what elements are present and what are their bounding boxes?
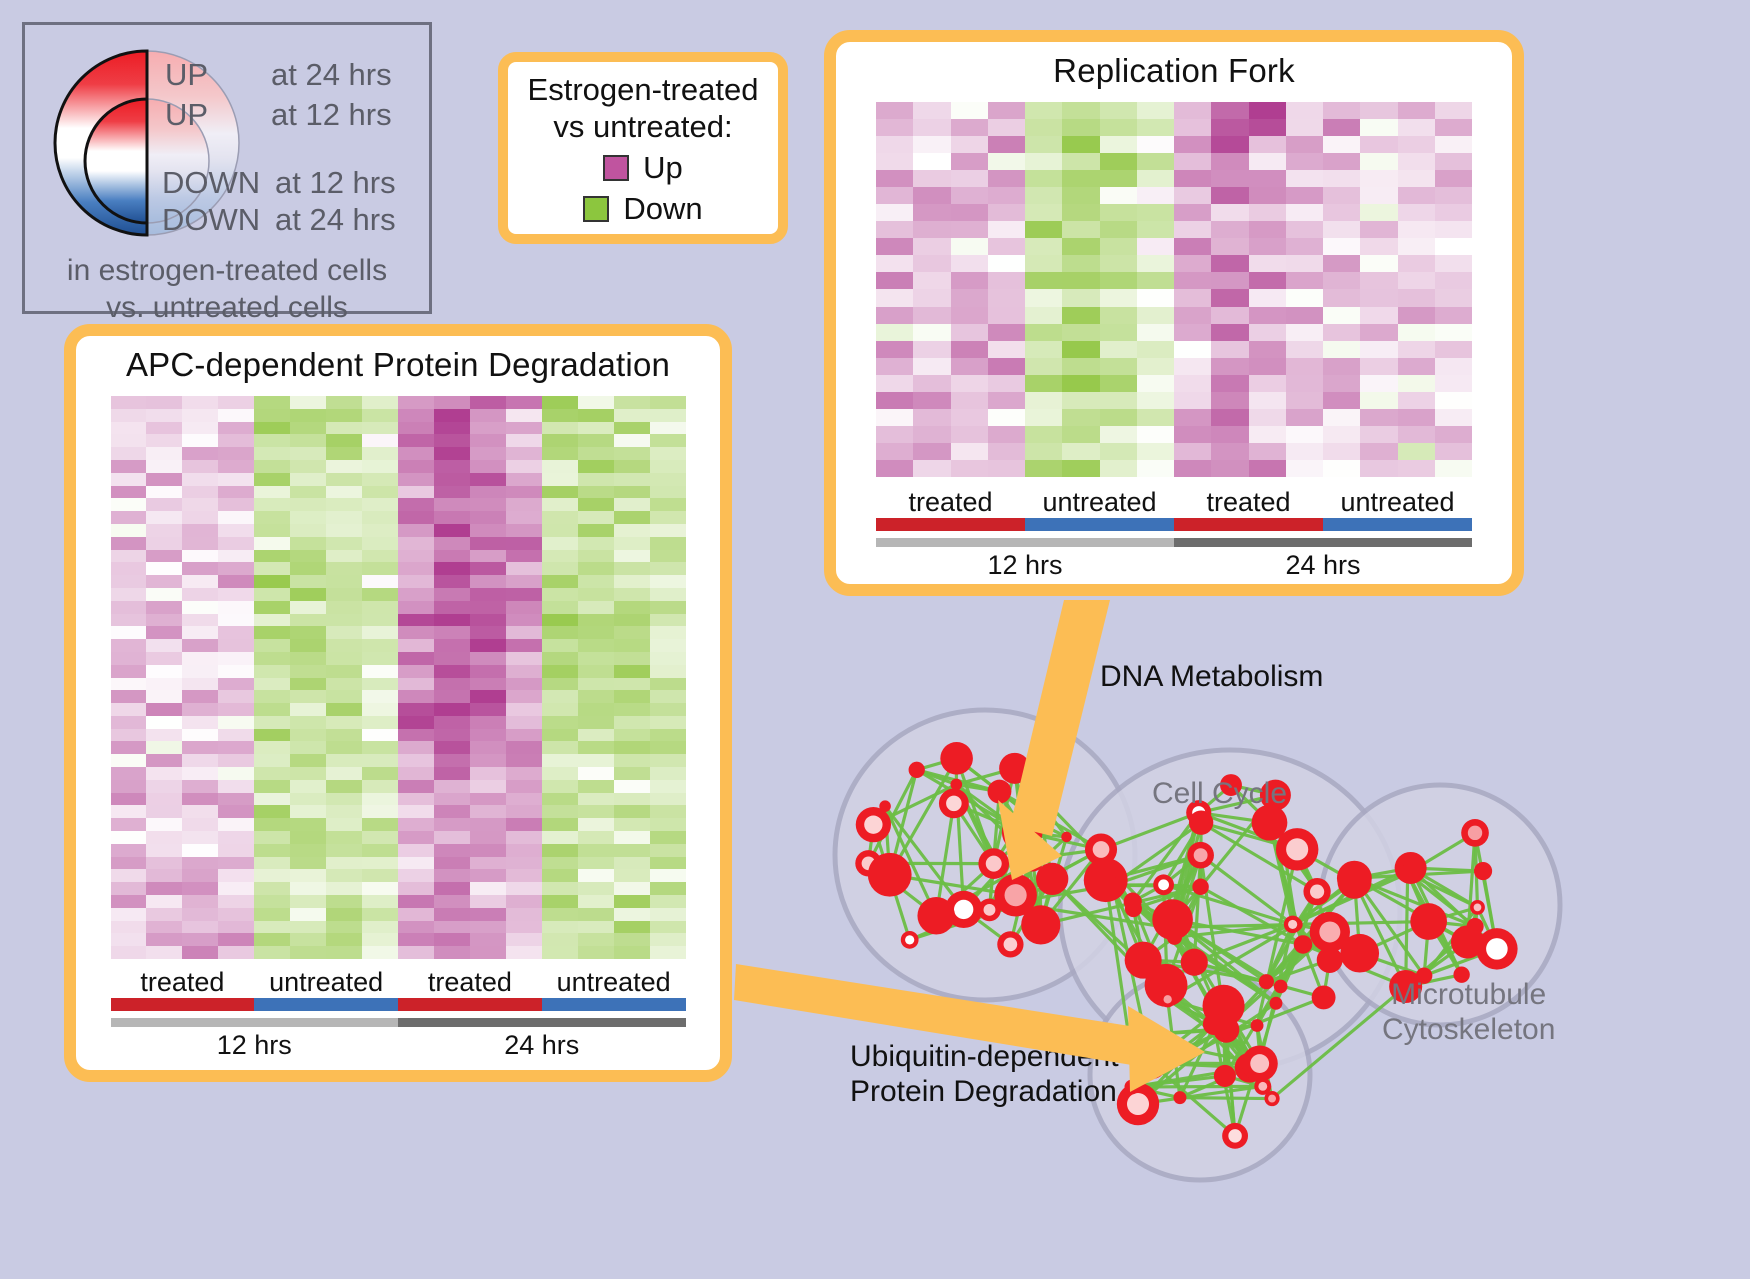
heatmap-cell [398, 895, 434, 908]
heatmap-cell [1062, 221, 1099, 238]
heatmap-cell [290, 396, 326, 409]
heatmap-cell [951, 409, 988, 426]
cluster-label-ubiquitin: Ubiquitin-dependent Protein Degradation [850, 1040, 1119, 1109]
heatmap-cell [1025, 187, 1062, 204]
heatmap-cell [218, 537, 254, 550]
heatmap-cell [290, 882, 326, 895]
heatmap-cell [470, 562, 506, 575]
heatmap-cell [434, 396, 470, 409]
heatmap-cell [1211, 443, 1248, 460]
heatmap-cell [614, 409, 650, 422]
heatmap-cell [988, 341, 1025, 358]
heatmap-cell [951, 375, 988, 392]
heatmap-cell [111, 716, 147, 729]
heatmap-cell [913, 153, 950, 170]
heatmap-cell [1025, 204, 1062, 221]
heatmap-cell [111, 831, 147, 844]
heatmap-cell [506, 626, 542, 639]
heatmap-cell [254, 524, 290, 537]
heatmap-cell [146, 818, 182, 831]
heatmap-cell [470, 652, 506, 665]
heatmap-cell [1323, 204, 1360, 221]
heatmap-cell [1360, 409, 1397, 426]
apc-title: APC-dependent Protein Degradation [76, 336, 720, 384]
heatmap-cell [1249, 426, 1286, 443]
timepoint-label: 24 hrs [398, 1027, 686, 1061]
heatmap-cell [434, 729, 470, 742]
heatmap-cell [988, 324, 1025, 341]
heatmap-cell [578, 818, 614, 831]
heatmap-cell [542, 869, 578, 882]
heatmap-cell [1025, 324, 1062, 341]
heatmap-cell [111, 690, 147, 703]
heatmap-cell [1398, 272, 1435, 289]
heatmap-cell [614, 601, 650, 614]
heatmap-cell [542, 614, 578, 627]
heatmap-cell [1323, 153, 1360, 170]
heatmap-cell [218, 882, 254, 895]
heatmap-cell [1249, 289, 1286, 306]
heatmap-cell [578, 562, 614, 575]
heatmap-cell [254, 396, 290, 409]
heatmap-cell [1062, 238, 1099, 255]
heatmap-cell [111, 575, 147, 588]
heatmap-cell [913, 255, 950, 272]
heatmap-cell [111, 486, 147, 499]
heatmap-cell [988, 221, 1025, 238]
heatmap-cell [146, 703, 182, 716]
heatmap-cell [470, 946, 506, 959]
heatmap-cell [988, 170, 1025, 187]
heatmap-cell [1435, 136, 1472, 153]
heatmap-cell [146, 473, 182, 486]
heatmap-cell [1249, 358, 1286, 375]
heatmap-cell [290, 831, 326, 844]
heatmap-cell [470, 818, 506, 831]
heatmap-cell [362, 921, 398, 934]
heatmap-cell [913, 204, 950, 221]
heatmap-cell [254, 652, 290, 665]
heatmap-cell [913, 221, 950, 238]
heatmap-cell [1286, 221, 1323, 238]
heatmap-cell [578, 614, 614, 627]
apc-condition-labels: treateduntreatedtreateduntreated [111, 967, 686, 998]
heatmap-cell [506, 434, 542, 447]
heatmap-cell [578, 793, 614, 806]
heatmap-cell [876, 358, 913, 375]
heatmap-cell [1100, 392, 1137, 409]
heatmap-cell [218, 460, 254, 473]
heatmap-cell [182, 831, 218, 844]
heatmap-cell [506, 588, 542, 601]
heatmap-cell [111, 434, 147, 447]
heatmap-cell [146, 588, 182, 601]
heatmap-cell [182, 396, 218, 409]
heatmap-cell [111, 409, 147, 422]
heatmap-cell [254, 895, 290, 908]
heatmap-cell [650, 690, 686, 703]
heatmap-cell [362, 498, 398, 511]
heatmap-cell [254, 626, 290, 639]
heatmap-cell [218, 588, 254, 601]
heatmap-cell [254, 946, 290, 959]
heatmap-cell [1062, 324, 1099, 341]
heatmap-cell [290, 908, 326, 921]
heatmap-cell [470, 780, 506, 793]
heatmap-cell [326, 575, 362, 588]
heatmap-cell [1286, 460, 1323, 477]
heatmap-cell [470, 614, 506, 627]
heatmap-cell [362, 831, 398, 844]
heatmap-cell [1137, 375, 1174, 392]
heatmap-cell [182, 537, 218, 550]
heatmap-cell [1137, 307, 1174, 324]
heatmap-cell [326, 882, 362, 895]
heatmap-cell [398, 741, 434, 754]
heatmap-cell [362, 447, 398, 460]
heatmap-cell [254, 805, 290, 818]
heatmap-cell [1286, 272, 1323, 289]
heatmap-cell [290, 869, 326, 882]
heatmap-cell [182, 921, 218, 934]
heatmap-cell [650, 524, 686, 537]
heatmap-cell [506, 793, 542, 806]
heatmap-cell [913, 187, 950, 204]
heatmap-cell [506, 537, 542, 550]
heatmap-cell [1174, 324, 1211, 341]
heatmap-cell [182, 857, 218, 870]
heatmap-cell [326, 754, 362, 767]
heatmap-cell [362, 511, 398, 524]
heatmap-cell [362, 716, 398, 729]
heatmap-cell [1211, 119, 1248, 136]
heatmap-cell [542, 818, 578, 831]
heatmap-cell [290, 665, 326, 678]
heatmap-cell [506, 933, 542, 946]
heatmap-cell [1211, 255, 1248, 272]
heatmap-cell [470, 460, 506, 473]
heatmap-cell [876, 375, 913, 392]
heatmap-cell [1435, 341, 1472, 358]
heatmap-cell [1286, 443, 1323, 460]
heatmap-cell [434, 882, 470, 895]
timepoint-bar [111, 1018, 399, 1027]
heatmap-cell [362, 818, 398, 831]
legend-down-label: Down [623, 191, 702, 227]
heatmap-cell [1398, 392, 1435, 409]
heatmap-cell [650, 678, 686, 691]
heatmap-cell [988, 307, 1025, 324]
heatmap-cell [1025, 136, 1062, 153]
heatmap-cell [542, 908, 578, 921]
heatmap-cell [1211, 392, 1248, 409]
heatmap-cell [290, 537, 326, 550]
heatmap-cell [1249, 409, 1286, 426]
heatmap-cell [362, 703, 398, 716]
heatmap-cell [578, 422, 614, 435]
heatmap-cell [876, 289, 913, 306]
heatmap-cell [578, 473, 614, 486]
heatmap-cell [614, 422, 650, 435]
heatmap-cell [146, 460, 182, 473]
heatmap-cell [1174, 460, 1211, 477]
heatmap-cell [578, 716, 614, 729]
heatmap-cell [434, 844, 470, 857]
heatmap-cell [1062, 153, 1099, 170]
heatmap-cell [988, 289, 1025, 306]
heatmap-cell [650, 447, 686, 460]
heatmap-cell [290, 601, 326, 614]
heatmap-cell [218, 678, 254, 691]
heatmap-cell [362, 575, 398, 588]
heatmap-cell [1323, 170, 1360, 187]
heatmap-cell [326, 498, 362, 511]
heatmap-cell [1249, 187, 1286, 204]
heatmap-cell [1360, 187, 1397, 204]
heatmap-cell [542, 498, 578, 511]
heatmap-cell [326, 550, 362, 563]
heatmap-cell [1137, 460, 1174, 477]
heatmap-cell [1100, 272, 1137, 289]
heatmap-cell [146, 652, 182, 665]
heatmap-cell [1398, 289, 1435, 306]
heatmap-cell [1398, 426, 1435, 443]
heatmap-cell [362, 844, 398, 857]
heatmap-cell [254, 588, 290, 601]
heatmap-cell [614, 946, 650, 959]
heatmap-cell [578, 537, 614, 550]
heatmap-cell [614, 793, 650, 806]
heatmap-cell [578, 780, 614, 793]
heatmap-cell [542, 626, 578, 639]
heatmap-cell [578, 639, 614, 652]
heatmap-cell [988, 443, 1025, 460]
heatmap-cell [1137, 341, 1174, 358]
heatmap-cell [326, 614, 362, 627]
heatmap-cell [218, 869, 254, 882]
heatmap-cell [542, 716, 578, 729]
heatmap-cell [111, 882, 147, 895]
heatmap-cell [542, 946, 578, 959]
heatmap-cell [542, 434, 578, 447]
heatmap-cell [506, 550, 542, 563]
heatmap-cell [650, 511, 686, 524]
heatmap-cell [876, 204, 913, 221]
heatmap-cell [470, 767, 506, 780]
heatmap-cell [1360, 426, 1397, 443]
heatmap-cell [111, 805, 147, 818]
heatmap-cell [1062, 136, 1099, 153]
heatmap-cell [434, 409, 470, 422]
heatmap-cell [1025, 170, 1062, 187]
heatmap-cell [290, 921, 326, 934]
heatmap-cell [1435, 324, 1472, 341]
heatmap-cell [290, 690, 326, 703]
heatmap-cell [290, 473, 326, 486]
heatmap-cell [951, 358, 988, 375]
heatmap-cell [614, 805, 650, 818]
heatmap-cell [146, 409, 182, 422]
heatmap-cell [470, 409, 506, 422]
heatmap-cell [398, 447, 434, 460]
condition-bar [1323, 518, 1472, 531]
colorbar-legend-footer: in estrogen-treated cells vs. untreated … [25, 253, 429, 326]
heatmap-cell [542, 933, 578, 946]
panel-replication-fork: Replication Fork treateduntreatedtreated… [824, 30, 1524, 596]
condition-label: treated [876, 487, 1025, 518]
heatmap-cell [876, 443, 913, 460]
heatmap-cell [398, 614, 434, 627]
heatmap-cell [111, 396, 147, 409]
heatmap-cell [218, 908, 254, 921]
heatmap-cell [362, 486, 398, 499]
heatmap-cell [614, 588, 650, 601]
heatmap-cell [470, 690, 506, 703]
heatmap-cell [542, 460, 578, 473]
heatmap-cell [434, 831, 470, 844]
heatmap-cell [1249, 307, 1286, 324]
heatmap-cell [1323, 324, 1360, 341]
heatmap-cell [913, 375, 950, 392]
heatmap-cell [988, 204, 1025, 221]
heatmap-cell [578, 933, 614, 946]
heatmap-cell [1360, 443, 1397, 460]
heatmap-cell [470, 396, 506, 409]
heatmap-cell [578, 831, 614, 844]
legend-down-12-time: at 12 hrs [275, 165, 396, 201]
heatmap-cell [913, 443, 950, 460]
heatmap-cell [254, 409, 290, 422]
heatmap-cell [913, 119, 950, 136]
heatmap-cell [614, 908, 650, 921]
heatmap-cell [398, 844, 434, 857]
heatmap-cell [218, 933, 254, 946]
heatmap-cell [650, 639, 686, 652]
heatmap-cell [578, 447, 614, 460]
heatmap-cell [218, 857, 254, 870]
heatmap-cell [398, 933, 434, 946]
heatmap-cell [1323, 409, 1360, 426]
heatmap-cell [326, 857, 362, 870]
heatmap-cell [1137, 238, 1174, 255]
heatmap-cell [578, 665, 614, 678]
heatmap-cell [146, 562, 182, 575]
heatmap-cell [542, 805, 578, 818]
heatmap-cell [326, 908, 362, 921]
heatmap-cell [326, 396, 362, 409]
heatmap-cell [1249, 119, 1286, 136]
updown-title-line2: vs untreated: [508, 109, 778, 146]
heatmap-cell [951, 426, 988, 443]
heatmap-cell [146, 895, 182, 908]
heatmap-cell [398, 511, 434, 524]
heatmap-cell [506, 447, 542, 460]
heatmap-cell [326, 780, 362, 793]
heatmap-cell [1286, 170, 1323, 187]
heatmap-cell [146, 524, 182, 537]
condition-label: treated [398, 967, 542, 998]
heatmap-cell [182, 678, 218, 691]
heatmap-cell [614, 921, 650, 934]
heatmap-cell [362, 729, 398, 742]
heatmap-cell [182, 652, 218, 665]
heatmap-cell [614, 844, 650, 857]
heatmap-cell [146, 396, 182, 409]
heatmap-cell [614, 690, 650, 703]
heatmap-cell [1249, 221, 1286, 238]
heatmap-cell [1435, 426, 1472, 443]
heatmap-cell [218, 921, 254, 934]
heatmap-cell [988, 409, 1025, 426]
heatmap-cell [650, 780, 686, 793]
heatmap-cell [182, 665, 218, 678]
heatmap-cell [182, 805, 218, 818]
heatmap-cell [254, 729, 290, 742]
heatmap-cell [254, 422, 290, 435]
heatmap-cell [111, 767, 147, 780]
heatmap-cell [182, 882, 218, 895]
heatmap-cell [1174, 409, 1211, 426]
heatmap-cell [1323, 289, 1360, 306]
heatmap-cell [506, 524, 542, 537]
heatmap-cell [1398, 170, 1435, 187]
heatmap-cell [1360, 392, 1397, 409]
condition-bar [1174, 518, 1323, 531]
heatmap-cell [1062, 375, 1099, 392]
cluster-label-dna-metabolism: DNA Metabolism [1100, 660, 1323, 695]
heatmap-cell [146, 626, 182, 639]
heatmap-cell [1360, 136, 1397, 153]
heatmap-cell [614, 562, 650, 575]
heatmap-cell [470, 511, 506, 524]
heatmap-cell [182, 780, 218, 793]
heatmap-cell [506, 857, 542, 870]
heatmap-cell [578, 460, 614, 473]
heatmap-cell [398, 486, 434, 499]
heatmap-cell [614, 741, 650, 754]
heatmap-cell [1211, 409, 1248, 426]
heatmap-cell [614, 665, 650, 678]
heatmap-cell [146, 665, 182, 678]
heatmap-cell [326, 703, 362, 716]
heatmap-cell [434, 908, 470, 921]
heatmap-cell [111, 498, 147, 511]
heatmap-cell [254, 908, 290, 921]
heatmap-cell [111, 895, 147, 908]
heatmap-cell [326, 844, 362, 857]
heatmap-cell [470, 716, 506, 729]
heatmap-cell [146, 729, 182, 742]
heatmap-cell [290, 933, 326, 946]
heatmap-cell [398, 869, 434, 882]
heatmap-cell [182, 511, 218, 524]
heatmap-cell [398, 626, 434, 639]
heatmap-cell [578, 396, 614, 409]
heatmap-cell [614, 882, 650, 895]
heatmap-cell [650, 882, 686, 895]
heatmap-cell [1100, 460, 1137, 477]
heatmap-cell [951, 204, 988, 221]
heatmap-cell [1174, 204, 1211, 221]
heatmap-cell [650, 434, 686, 447]
heatmap-cell [951, 136, 988, 153]
heatmap-cell [470, 882, 506, 895]
heatmap-cell [362, 396, 398, 409]
heatmap-cell [218, 626, 254, 639]
heatmap-cell [1249, 136, 1286, 153]
updown-title-line1: Estrogen-treated [508, 72, 778, 109]
heatmap-cell [434, 703, 470, 716]
